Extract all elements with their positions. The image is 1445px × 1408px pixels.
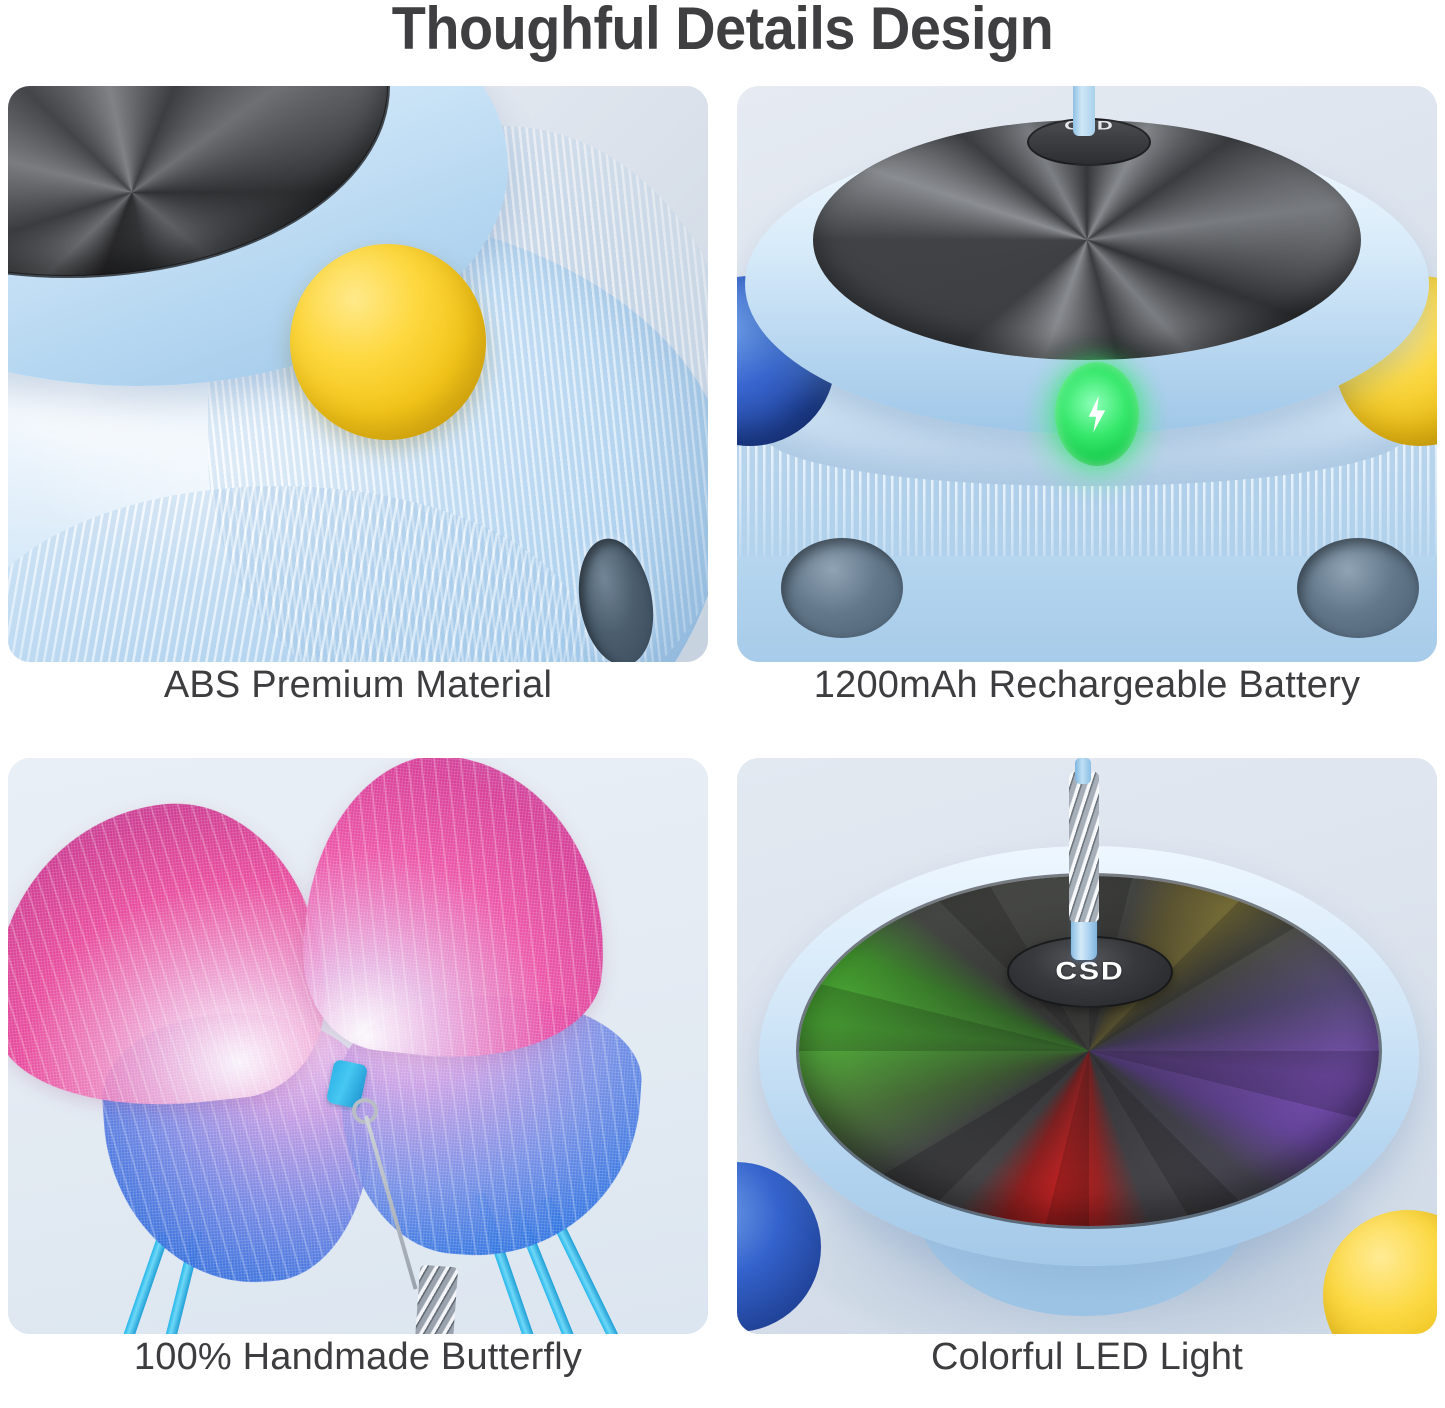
wand-stem (1075, 758, 1091, 784)
wand-rod (1073, 86, 1095, 136)
track-hole-left (781, 538, 903, 638)
page-title: Thoughful Details Design (51, 0, 1395, 63)
feature-caption-led: Colorful LED Light (737, 1336, 1437, 1379)
brand-logo: CSD (1055, 958, 1124, 986)
feature-card-abs-material: ABS Premium Material (8, 86, 708, 716)
feature-card-led: CSD Colorful LED Light (737, 758, 1437, 1388)
metal-spring (1069, 772, 1099, 922)
feature-grid: ABS Premium Material CSD (8, 86, 1437, 1346)
feature-caption-battery: 1200mAh Rechargeable Battery (737, 664, 1437, 707)
product-feature-infographic: Thoughful Details Design ABS Premium Mat… (0, 0, 1445, 1408)
feature-card-butterfly: 100% Handmade Butterfly (8, 758, 708, 1388)
feature-image-abs-material (8, 86, 708, 662)
feature-caption-butterfly: 100% Handmade Butterfly (8, 1336, 708, 1379)
feature-card-battery: CSD (737, 86, 1437, 716)
track-hole-right (1297, 538, 1419, 638)
feature-image-butterfly (8, 758, 708, 1334)
feature-caption-abs-material: ABS Premium Material (8, 664, 708, 707)
lightning-bolt-icon (1086, 394, 1108, 434)
feature-image-battery: CSD (737, 86, 1437, 662)
yellow-ball (290, 244, 486, 440)
feature-image-led: CSD (737, 758, 1437, 1334)
charging-status-led (1055, 362, 1139, 466)
metal-spring (412, 1265, 458, 1334)
